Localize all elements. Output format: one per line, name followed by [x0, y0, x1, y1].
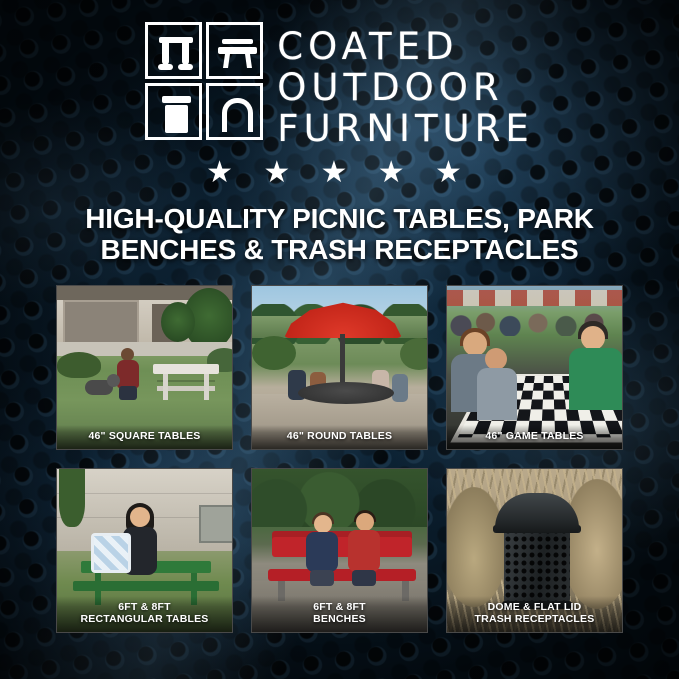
- category-tile-trash-receptacles[interactable]: DOME & FLAT LID TRASH RECEPTACLES: [446, 468, 623, 633]
- tile-caption-line-1: 46" SQUARE TABLES: [88, 430, 200, 442]
- brand-word-outdoor: OUTDOOR: [277, 67, 533, 108]
- tile-caption: 6FT & 8FT BENCHES: [252, 596, 427, 632]
- park-bench-icon: [206, 22, 263, 79]
- tile-caption-line-1: 6FT & 8FT: [313, 601, 366, 613]
- dome-lid-trash-receptacle-icon: [206, 83, 263, 140]
- tile-caption-line-1: 46" GAME TABLES: [485, 430, 583, 442]
- tile-caption: 46" SQUARE TABLES: [57, 425, 232, 449]
- brand-wordmark: COATED OUTDOOR FURNITURE: [277, 22, 533, 149]
- category-tile-game-tables[interactable]: 46" GAME TABLES: [446, 285, 623, 450]
- page-title: HIGH-QUALITY PICNIC TABLES, PARK BENCHES…: [28, 203, 651, 265]
- category-tile-round-tables[interactable]: 46" ROUND TABLES: [251, 285, 428, 450]
- tile-caption: DOME & FLAT LID TRASH RECEPTACLES: [447, 596, 622, 632]
- tile-caption: 46" ROUND TABLES: [252, 425, 427, 449]
- product-banner-image: COATED OUTDOOR FURNITURE ★ ★ ★ ★ ★ HIGH-…: [0, 0, 679, 679]
- tile-caption: 46" GAME TABLES: [447, 425, 622, 449]
- category-tile-benches[interactable]: 6FT & 8FT BENCHES: [251, 468, 428, 633]
- brand-word-furniture: FURNITURE: [277, 108, 533, 149]
- product-category-grid: 46" SQUARE TABLES: [56, 285, 623, 633]
- brand-word-coated: COATED: [277, 26, 533, 67]
- tile-caption-line-1: 46" ROUND TABLES: [287, 430, 392, 442]
- category-tile-square-tables[interactable]: 46" SQUARE TABLES: [56, 285, 233, 450]
- tile-caption-line-2: TRASH RECEPTACLES: [475, 613, 595, 625]
- tile-caption-line-1: DOME & FLAT LID: [488, 601, 582, 613]
- logo-icon-grid: [145, 22, 263, 140]
- category-tile-rectangular-tables[interactable]: 6FT & 8FT RECTANGULAR TABLES: [56, 468, 233, 633]
- tile-caption-line-2: RECTANGULAR TABLES: [80, 613, 208, 625]
- brand-logo: COATED OUTDOOR FURNITURE: [0, 22, 679, 149]
- headline-line-1: HIGH-QUALITY PICNIC TABLES, PARK: [85, 203, 594, 234]
- headline-line-2: BENCHES & TRASH RECEPTACLES: [28, 234, 651, 265]
- tile-caption: 6FT & 8FT RECTANGULAR TABLES: [57, 596, 232, 632]
- flat-lid-trash-receptacle-icon: [145, 83, 202, 140]
- tile-caption-line-1: 6FT & 8FT: [118, 601, 171, 613]
- star-rating: ★ ★ ★ ★ ★: [0, 158, 679, 188]
- banner-content: COATED OUTDOOR FURNITURE ★ ★ ★ ★ ★ HIGH-…: [0, 0, 679, 679]
- picnic-table-icon: [145, 22, 202, 79]
- tile-caption-line-2: BENCHES: [313, 613, 366, 625]
